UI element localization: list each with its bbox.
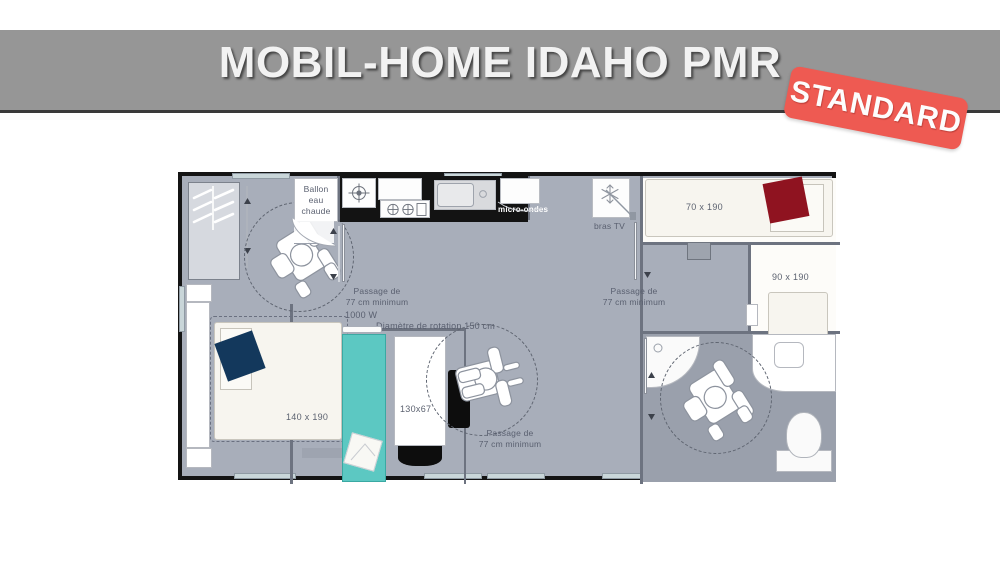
window-bottom-mid [424, 473, 482, 479]
passage-center-line1: Passage de [487, 428, 534, 438]
shower-unit-dimension: 130x67 [400, 404, 431, 414]
wheelchair-icon-bathroom [676, 356, 760, 440]
window-top-left [232, 173, 290, 179]
microwave-unit [500, 178, 540, 204]
bed-70x190-dimension: 70 x 190 [686, 202, 723, 212]
passage-left-track [338, 226, 340, 282]
passage-left-arrow-icon [330, 228, 337, 280]
window-left [179, 286, 185, 332]
passage-right-line1: Passage de [611, 286, 658, 296]
bathroom-door-arrow-icon [648, 372, 655, 420]
water-heater-label-line2: eau [309, 195, 324, 205]
master-nightstand-top [186, 284, 212, 302]
window-bottom-mid2 [487, 473, 545, 479]
tv-bracket-icon [606, 190, 636, 220]
passage-right-line2: 77 cm minimum [603, 297, 666, 307]
sofa-cushion-fold-icon [349, 440, 377, 466]
passage-center-line2: 77 cm minimum [479, 439, 542, 449]
screenshot-root: MOBIL-HOME IDAHO PMR STANDARD [0, 0, 1000, 563]
gas-hob-icon [382, 202, 428, 217]
entrance-door-louvers-icon [190, 184, 238, 236]
master-bed-dimension: 140 x 190 [286, 412, 328, 422]
bed-90x190-dimension: 90 x 190 [772, 272, 809, 282]
shower-unit-base [398, 446, 442, 466]
wheelchair-icon-central [444, 340, 528, 420]
master-nightstand-bottom [186, 448, 212, 468]
kitchen-sink-icon [437, 183, 493, 207]
master-wardrobe [186, 302, 210, 448]
microwave-door-arc-icon [498, 202, 542, 216]
passage-left-line1: Passage de [354, 286, 401, 296]
passage-left-door-leaf [342, 224, 345, 282]
bathroom-door-leaf [644, 338, 647, 394]
bedroom-three-nightstand [746, 304, 758, 326]
bathroom-washbasin [774, 342, 804, 368]
bed-70x190-cushion [763, 177, 810, 224]
water-heater-label-line3: chaude [301, 206, 330, 216]
passage-left-line2: 77 cm minimum [346, 297, 409, 307]
window-bottom-left [234, 473, 296, 479]
bedroom-two-nightstand [687, 242, 711, 260]
kitchen-cabinet-left [378, 178, 422, 200]
floor-plan: Ballon eau chaude [178, 172, 836, 480]
washing-machine-icon [348, 183, 370, 203]
water-heater-label-line1: Ballon [304, 184, 329, 194]
shower-drain-icon [652, 342, 664, 354]
passage-right-label: Passage de 77 cm minimum [574, 286, 694, 308]
tv-bracket-label: bras TV [594, 221, 625, 232]
heater-unit [342, 326, 382, 333]
passage-left-label: Passage de 77 cm minimum [322, 286, 432, 308]
passage-center-label: Passage de 77 cm minimum [450, 428, 570, 450]
toilet-bowl [786, 412, 822, 458]
water-heater-label: Ballon eau chaude [294, 184, 338, 217]
floor-plan-canvas: Ballon eau chaude [182, 176, 832, 476]
heater-power-label: 1000 W [345, 310, 377, 321]
passage-right-door-leaf [634, 222, 637, 280]
